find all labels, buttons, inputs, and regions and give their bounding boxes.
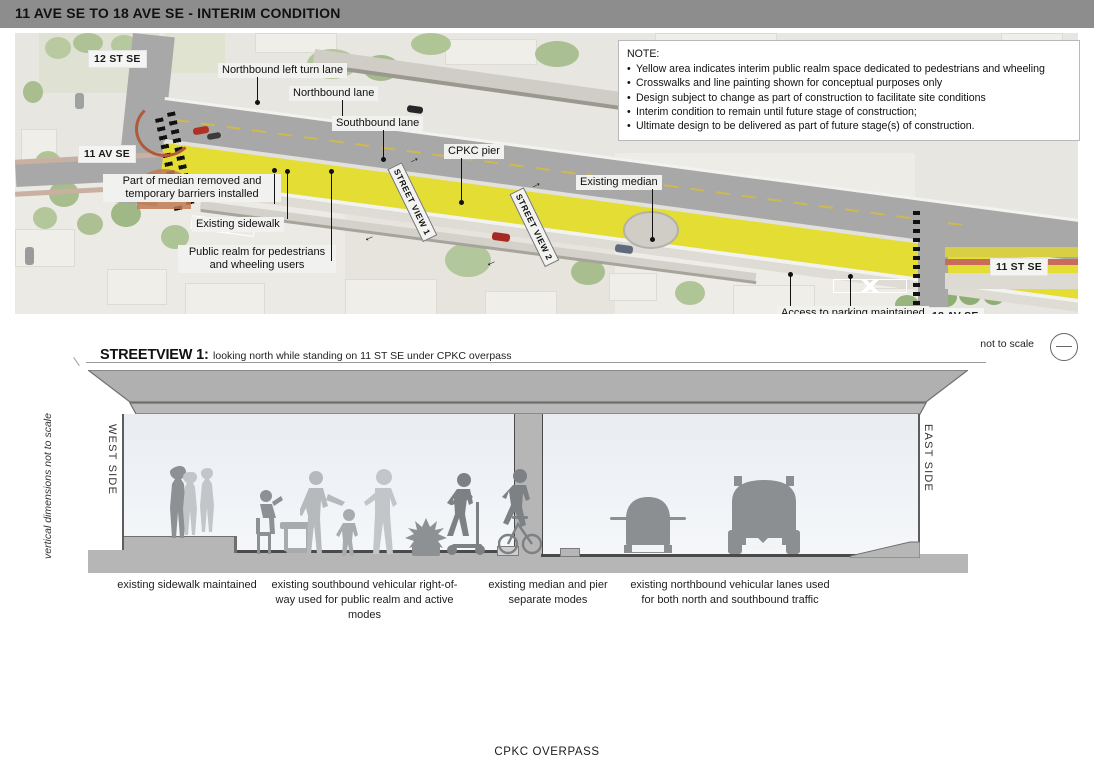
cyclist-silhouette xyxy=(498,468,542,556)
note-heading: NOTE: xyxy=(627,47,1071,61)
callout-northbound-lane: Northbound lane xyxy=(289,86,378,101)
leader-dot xyxy=(255,100,260,105)
callout-public-realm: Public realm for pedestrians and wheelin… xyxy=(178,245,336,273)
callout-access-to-parking: Access to parking maintained xyxy=(777,306,929,314)
north-arrow-icon xyxy=(1050,333,1078,361)
east-curb-ramp xyxy=(850,538,920,558)
overpass-label: CPKC OVERPASS xyxy=(0,746,1094,758)
callout-northbound-left-turn-lane: Northbound left turn lane xyxy=(218,63,347,78)
caption-median-and-pier: existing median and pier separate modes xyxy=(478,578,618,608)
leader-line xyxy=(331,173,332,261)
map-label-11-st-se: 11 ST SE xyxy=(990,258,1048,276)
callout-cpkc-pier: CPKC pier xyxy=(444,144,504,159)
note-item: Yellow area indicates interim public rea… xyxy=(627,62,1071,76)
map-label-11-av-se: 11 AV SE xyxy=(78,145,136,163)
cross-section-captions: existing sidewalk maintained existing so… xyxy=(0,572,1094,633)
caption-southbound-row-public-realm: existing southbound vehicular right-of-w… xyxy=(262,578,467,623)
leader-line xyxy=(274,174,275,204)
not-to-scale-label: not to scale xyxy=(980,338,1034,350)
leader-dot xyxy=(285,169,290,174)
car-silhouette xyxy=(608,483,688,555)
leader-dot xyxy=(459,200,464,205)
streetview-title: STREETVIEW 1: xyxy=(100,347,209,363)
callout-median-removed: Part of median removed and temporary bar… xyxy=(103,174,281,202)
note-item: Ultimate design to be delivered as part … xyxy=(627,119,1071,133)
scooter-rider-silhouette xyxy=(446,472,494,556)
caption-existing-sidewalk-maintained: existing sidewalk maintained xyxy=(112,578,262,593)
streetview-subtitle: looking north while standing on 11 ST SE… xyxy=(213,350,511,362)
overpass-deck xyxy=(88,370,968,416)
note-list: Yellow area indicates interim public rea… xyxy=(627,62,1071,133)
page-title: 11 AVE SE TO 18 AVE SE - INTERIM CONDITI… xyxy=(15,5,341,21)
note-item: Interim condition to remain until future… xyxy=(627,105,1071,119)
leader-dot xyxy=(329,169,334,174)
map-label-18-av-se: 18 AV SE xyxy=(926,307,985,314)
cross-section-diagram: CPKC OVERPASS WEST SIDE EAST SIDE xyxy=(0,368,1094,573)
caption-rule-tail xyxy=(73,351,88,366)
note-item: Crosswalks and line painting shown for c… xyxy=(627,76,1071,90)
leader-line xyxy=(850,278,851,306)
truck-silhouette xyxy=(718,472,810,556)
leader-dot xyxy=(650,237,655,242)
leader-line xyxy=(461,158,462,202)
note-item: Design subject to change as part of cons… xyxy=(627,91,1071,105)
map-label-12-st-se: 12 ST SE xyxy=(88,50,147,68)
west-side-label: WEST SIDE xyxy=(106,424,118,490)
note-box: NOTE: Yellow area indicates interim publ… xyxy=(618,40,1080,141)
pedestrian-group-silhouette xyxy=(168,466,230,554)
callout-southbound-lane: Southbound lane xyxy=(332,116,423,131)
leader-line xyxy=(383,130,384,159)
caption-rule xyxy=(86,362,986,363)
leader-line xyxy=(790,276,791,306)
leader-line xyxy=(257,77,258,102)
callout-existing-median: Existing median xyxy=(576,175,662,190)
vertical-scale-note: vertical dimensions not to scale xyxy=(42,396,54,576)
curb-step xyxy=(234,536,237,553)
leader-dot xyxy=(381,157,386,162)
east-side-label: EAST SIDE xyxy=(922,424,934,490)
leader-line xyxy=(287,173,288,219)
leader-dot xyxy=(272,168,277,173)
leader-dot xyxy=(788,272,793,277)
leader-line xyxy=(652,189,653,239)
west-gutter-notch xyxy=(560,548,580,557)
caption-northbound-both-directions: existing northbound vehicular lanes used… xyxy=(630,578,830,608)
callout-existing-sidewalk: Existing sidewalk xyxy=(192,217,284,232)
leader-dot xyxy=(848,274,853,279)
